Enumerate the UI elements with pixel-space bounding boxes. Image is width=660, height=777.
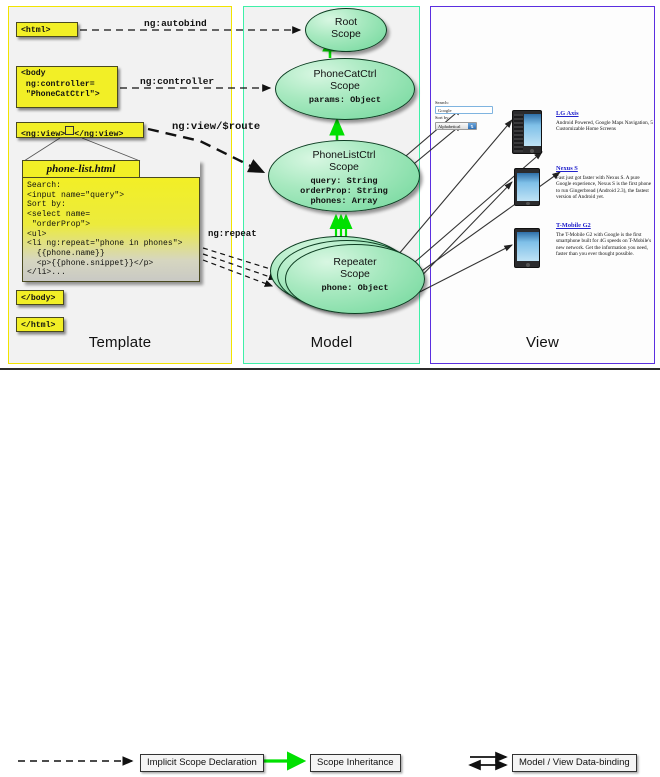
tag-ngview: <ng:view></ng:view> (16, 122, 144, 138)
ngview-placeholder-box (65, 126, 74, 135)
phone-name-link[interactable]: Nexus S (556, 165, 656, 172)
edge-label-view-route: ng:view/$route (172, 121, 260, 133)
scope-repeater: Repeater Scope phone: Object (285, 244, 425, 314)
scope-phonelistctrl-title: PhoneListCtrl Scope (269, 150, 419, 173)
tag-html-open: <html> (16, 22, 78, 37)
tag-html-close: </html> (16, 317, 64, 332)
phone-description: The T-Mobile G2 with Google is the first… (556, 232, 656, 258)
panel-label-template: Template (8, 334, 232, 351)
scope-root-title: Root Scope (306, 17, 386, 40)
phone-image-nexus-s (514, 168, 540, 206)
panel-label-view: View (430, 334, 655, 351)
phone-description: Fast just got faster with Nexus S. A pur… (556, 175, 656, 201)
phone-text-nexus-s: Nexus S Fast just got faster with Nexus … (556, 165, 656, 201)
scope-phonecatctrl: PhoneCatCtrl Scope params: Object (275, 58, 415, 120)
legend-label-implicit: Implicit Scope Declaration (140, 754, 264, 772)
edge-label-controller: ng:controller (140, 76, 214, 87)
sort-select-value: Alphabetical (438, 124, 460, 129)
search-input[interactable]: Google (435, 106, 493, 114)
chevron-updown-icon: ⇅ (468, 123, 476, 129)
scope-phonecatctrl-props: params: Object (276, 95, 414, 105)
diagram-canvas: ng:autobind ng:controller ng:view/$route… (0, 0, 660, 405)
legend-arrow-layer (0, 372, 660, 777)
scope-phonecatctrl-title: PhoneCatCtrl Scope (276, 69, 414, 92)
sort-label: Sort by: (435, 115, 497, 121)
scope-root: Root Scope (305, 8, 387, 52)
scope-phonelistctrl-props: query: String orderProp: String phones: … (269, 176, 419, 206)
legend-label-databinding: Model / View Data-binding (512, 754, 637, 772)
phone-name-link[interactable]: T-Mobile G2 (556, 222, 656, 229)
scope-repeater-title: Repeater Scope (286, 257, 424, 280)
ngview-close-label: </ng:view> (74, 130, 123, 139)
phone-list-callout: phone-list.html Search: <input name="que… (22, 160, 200, 282)
ngview-open-label: <ng:view> (21, 130, 65, 139)
scope-phonelistctrl: PhoneListCtrl Scope query: String orderP… (268, 140, 420, 212)
phone-image-lg-axis (512, 110, 542, 154)
tag-body-close: </body> (16, 290, 64, 305)
edge-label-repeat: ng:repeat (208, 229, 257, 239)
legend: Implicit Scope Declaration Scope Inherit… (0, 372, 660, 405)
phone-description: Android Powered, Google Maps Navigation,… (556, 120, 656, 133)
tag-body-open: <body ng:controller= "PhoneCatCtrl"> (16, 66, 118, 108)
scope-repeater-props: phone: Object (286, 283, 424, 293)
callout-code: Search: <input name="query"> Sort by: <s… (22, 177, 200, 282)
view-search-form: Search: Google Sort by: Alphabetical ⇅ (435, 100, 497, 130)
legend-label-inheritance: Scope Inheritance (310, 754, 401, 772)
panel-label-model: Model (243, 334, 420, 351)
legend-divider (0, 368, 660, 370)
phone-name-link[interactable]: LG Axis (556, 110, 656, 117)
phone-text-tmobile-g2: T-Mobile G2 The T-Mobile G2 with Google … (556, 222, 656, 258)
sort-select[interactable]: Alphabetical ⇅ (435, 122, 477, 130)
phone-text-lg-axis: LG Axis Android Powered, Google Maps Nav… (556, 110, 656, 133)
phone-image-tmobile-g2 (514, 228, 540, 268)
callout-filename: phone-list.html (22, 160, 140, 178)
edge-label-autobind: ng:autobind (144, 18, 207, 29)
